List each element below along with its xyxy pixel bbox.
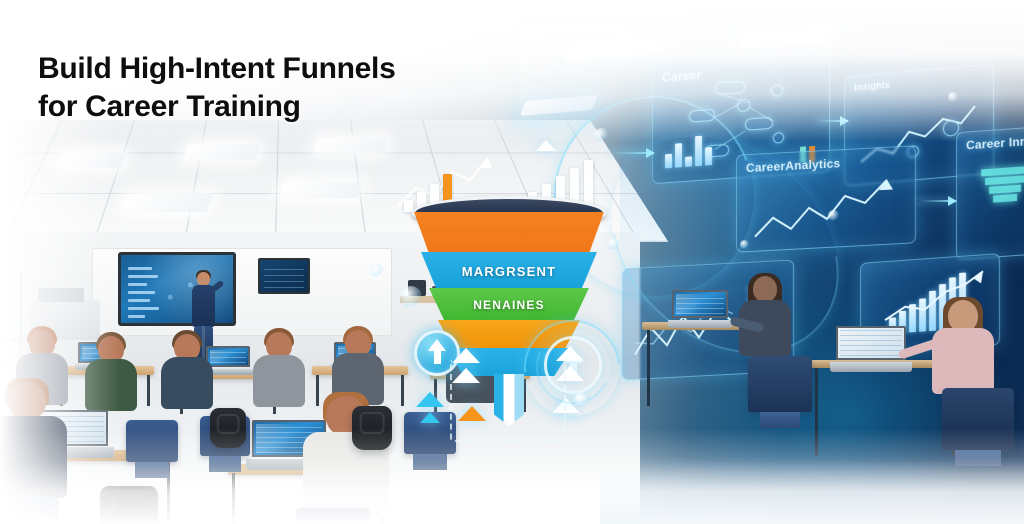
chevron-up-icon: [416, 392, 444, 407]
light-bokeh: [740, 240, 749, 249]
light-bokeh: [400, 286, 422, 308]
ceiling-light: [120, 194, 213, 212]
ceiling-light: [183, 144, 260, 160]
instructor-head: [197, 272, 210, 286]
hero-banner: Career: [0, 0, 1024, 524]
chevron-up-icon: [536, 140, 556, 151]
funnel-band-1: [414, 212, 604, 254]
funnel-band-label: MARGRSENT: [462, 264, 557, 279]
title-line-1: Build High-Intent Funnels: [38, 52, 395, 85]
holo-panel-innovation[interactable]: Career Inn: [956, 124, 1024, 260]
light-bokeh: [574, 392, 590, 408]
funnel-band-2: MARGRSENT: [421, 252, 597, 290]
wall-monitor: [258, 258, 310, 294]
funnel-icon: [981, 166, 1024, 203]
student: [160, 334, 214, 410]
top-white-fade-right: [520, 0, 1024, 142]
chair: [748, 356, 812, 412]
flow-arrow: [916, 200, 956, 202]
light-bokeh: [608, 238, 620, 250]
smartboard-rows: [128, 267, 159, 318]
ceiling-light: [279, 182, 362, 198]
page-title: Build High-Intent Funnels for Career Tra…: [38, 50, 395, 126]
light-bokeh: [828, 210, 839, 221]
student: [252, 332, 306, 408]
funnel-band-3: NENAINES: [429, 288, 589, 322]
chevron-up-icon: [420, 412, 440, 423]
bottom-fade-blue: [600, 428, 1024, 524]
laptop: [836, 326, 906, 372]
laptop: [672, 290, 728, 328]
funnel-band-label: NENAINES: [473, 298, 545, 312]
title-line-2: for Career Training: [38, 88, 395, 126]
light-bokeh: [370, 264, 383, 277]
